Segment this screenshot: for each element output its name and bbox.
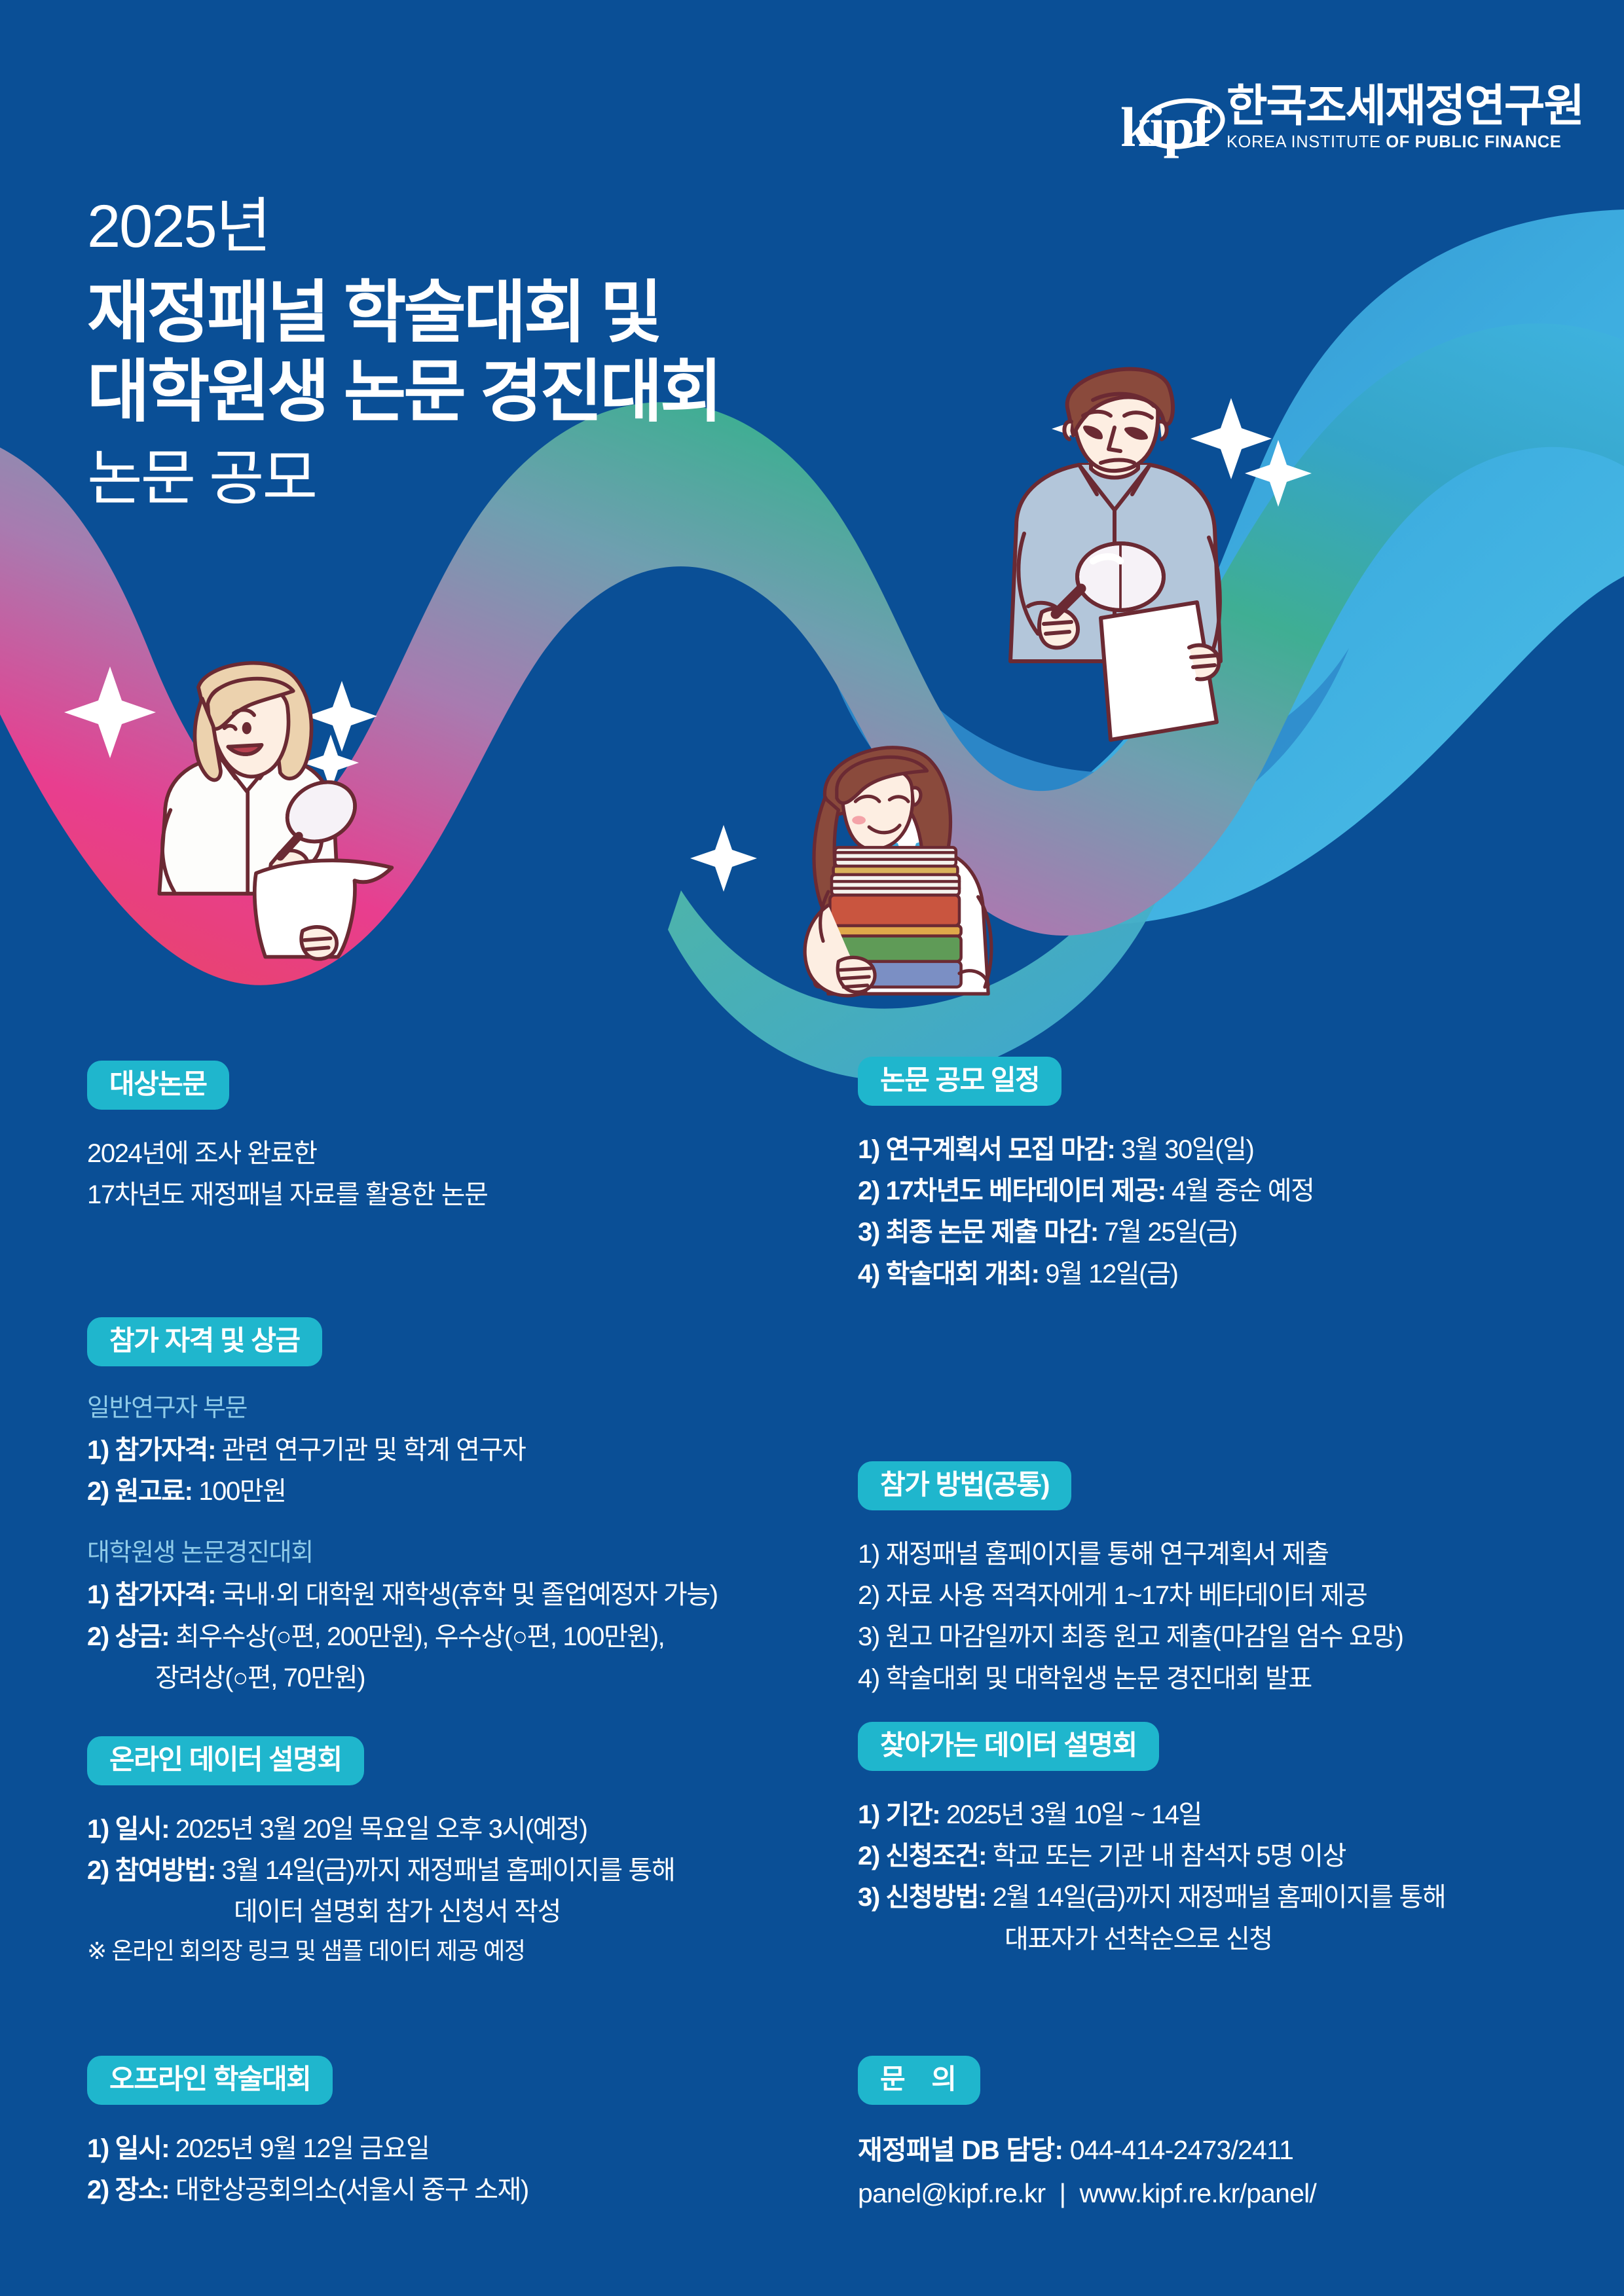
onsite-briefing-item-label: 3) 신청방법:: [858, 1883, 986, 1912]
offline-conference-item-label: 1) 일시:: [87, 2134, 169, 2163]
target-paper-line: 2024년에 조사 완료한: [87, 1133, 488, 1175]
schedule-item: 1) 연구계획서 모집 마감: 3월 30일(일): [858, 1129, 1314, 1171]
onsite-briefing-body: 1) 기간: 2025년 3월 10일 ~ 14일 2) 신청조건: 학교 또는…: [858, 1795, 1445, 1960]
how-to-join-item: 3) 원고 마감일까지 최종 원고 제출(마감일 엄수 요망): [858, 1616, 1403, 1658]
schedule-item-label: 2) 17차년도 베타데이터 제공:: [858, 1176, 1166, 1205]
eligibility-item-label: 1) 참가자격:: [87, 1436, 215, 1465]
online-briefing-item: 1) 일시: 2025년 3월 20일 목요일 오후 3시(예정): [87, 1809, 674, 1850]
badge-onsite-briefing: 찾아가는 데이터 설명회: [858, 1722, 1159, 1771]
inquiry-phone-label: 재정패널 DB 담당:: [858, 2135, 1063, 2165]
offline-conference-item: 2) 장소: 대한상공회의소(서울시 중구 소재): [87, 2170, 528, 2211]
onsite-briefing-item-value: 학교 또는 기관 내 참석자 5명 이상: [986, 1842, 1346, 1870]
how-to-join-item: 4) 학술대회 및 대학원생 논문 경진대회 발표: [858, 1658, 1403, 1700]
eligibility-item: 2) 원고료: 100만원: [87, 1471, 718, 1512]
logo-en-bold: OF PUBLIC FINANCE: [1386, 133, 1561, 151]
inquiry-body: 재정패널 DB 담당: 044-414-2473/2411 panel@kipf…: [858, 2128, 1316, 2215]
offline-conference-item-value: 대한상공회의소(서울시 중구 소재): [169, 2176, 528, 2204]
badge-schedule: 논문 공모 일정: [858, 1057, 1061, 1106]
schedule-item-label: 4) 학술대회 개최:: [858, 1260, 1039, 1288]
eligibility-item: 1) 참가자격: 관련 연구기관 및 학계 연구자: [87, 1430, 718, 1471]
badge-inquiry: 문 의: [858, 2056, 980, 2105]
onsite-briefing-continued: 대표자가 선착순으로 신청: [858, 1919, 1445, 1960]
how-to-join-item: 2) 자료 사용 적격자에게 1~17차 베타데이터 제공: [858, 1575, 1403, 1616]
schedule-item: 2) 17차년도 베타데이터 제공: 4월 중순 예정: [858, 1171, 1314, 1212]
how-to-join-body: 1) 재정패널 홈페이지를 통해 연구계획서 제출 2) 자료 사용 적격자에게…: [858, 1534, 1403, 1700]
inquiry-phone-value: 044-414-2473/2411: [1063, 2135, 1293, 2165]
section-how-to-join: 참가 방법(공통) 1) 재정패널 홈페이지를 통해 연구계획서 제출 2) 자…: [858, 1461, 1403, 1700]
badge-how-to-join: 참가 방법(공통): [858, 1461, 1071, 1510]
target-paper-line: 17차년도 재정패널 자료를 활용한 논문: [87, 1175, 488, 1216]
schedule-item-label: 3) 최종 논문 제출 마감:: [858, 1218, 1098, 1247]
schedule-body: 1) 연구계획서 모집 마감: 3월 30일(일) 2) 17차년도 베타데이터…: [858, 1129, 1314, 1295]
schedule-item: 4) 학술대회 개최: 9월 12일(금): [858, 1254, 1314, 1295]
offline-conference-item: 1) 일시: 2025년 9월 12일 금요일: [87, 2128, 528, 2170]
eligibility-body: 일반연구자 부문 1) 참가자격: 관련 연구기관 및 학계 연구자 2) 원고…: [87, 1390, 718, 1699]
offline-conference-body: 1) 일시: 2025년 9월 12일 금요일 2) 장소: 대한상공회의소(서…: [87, 2128, 528, 2211]
schedule-item-value: 7월 25일(금): [1098, 1218, 1237, 1247]
schedule-item-value: 4월 중순 예정: [1166, 1176, 1314, 1205]
logo-korean-name: 한국조세재정연구원: [1227, 84, 1583, 128]
online-briefing-note: ※ 온라인 회의장 링크 및 샘플 데이터 제공 예정: [87, 1933, 674, 1969]
schedule-item-value: 3월 30일(일): [1115, 1135, 1253, 1164]
eligibility-group1-title: 일반연구자 부문: [87, 1390, 718, 1427]
online-briefing-item-label: 1) 일시:: [87, 1815, 169, 1844]
eligibility-item: 1) 참가자격: 국내·외 대학원 재학생(휴학 및 졸업예정자 가능): [87, 1575, 718, 1616]
onsite-briefing-item-value: 2월 14일(금)까지 재정패널 홈페이지를 통해: [986, 1883, 1445, 1912]
eligibility-item-value: 최우수상(○편, 200만원), 우수상(○편, 100만원),: [169, 1622, 664, 1651]
online-briefing-item-value: 3월 14일(금)까지 재정패널 홈페이지를 통해: [215, 1856, 674, 1885]
section-onsite-briefing: 찾아가는 데이터 설명회 1) 기간: 2025년 3월 10일 ~ 14일 2…: [858, 1722, 1445, 1960]
eligibility-item-continued: 장려상(○편, 70만원): [87, 1658, 718, 1699]
online-briefing-continued: 데이터 설명회 참가 신청서 작성: [87, 1891, 674, 1933]
section-target-paper: 대상논문 2024년에 조사 완료한 17차년도 재정패널 자료를 활용한 논문: [87, 1061, 488, 1216]
eligibility-item-label: 2) 상금:: [87, 1622, 169, 1651]
title-subtitle: 논문 공모: [87, 448, 720, 509]
online-briefing-body: 1) 일시: 2025년 3월 20일 목요일 오후 3시(예정) 2) 참여방…: [87, 1809, 674, 1969]
kipf-logo: kipf 한국조세재정연구원 KOREA INSTITUTE OF PUBLIC…: [1120, 84, 1583, 151]
kipf-wordmark-icon: kipf: [1120, 101, 1209, 153]
poster-title-block: 2025년 재정패널 학술대회 및 대학원생 논문 경진대회 논문 공모: [87, 196, 720, 509]
onsite-briefing-item-label: 2) 신청조건:: [858, 1842, 986, 1870]
eligibility-item-value: 국내·외 대학원 재학생(휴학 및 졸업예정자 가능): [215, 1580, 718, 1609]
schedule-item-value: 9월 12일(금): [1039, 1260, 1178, 1288]
eligibility-item-label: 1) 참가자격:: [87, 1580, 215, 1609]
onsite-briefing-item: 1) 기간: 2025년 3월 10일 ~ 14일: [858, 1795, 1445, 1836]
online-briefing-item: 2) 참여방법: 3월 14일(금)까지 재정패널 홈페이지를 통해: [87, 1850, 674, 1891]
onsite-briefing-item-label: 1) 기간:: [858, 1800, 940, 1829]
inquiry-email-website[interactable]: panel@kipf.re.kr | www.kipf.re.kr/panel/: [858, 2172, 1316, 2215]
title-line-2: 대학원생 논문 경진대회: [87, 353, 720, 432]
section-offline-conference: 오프라인 학술대회 1) 일시: 2025년 9월 12일 금요일 2) 장소:…: [87, 2056, 528, 2211]
section-online-briefing: 온라인 데이터 설명회 1) 일시: 2025년 3월 20일 목요일 오후 3…: [87, 1736, 674, 1969]
title-year: 2025년: [87, 196, 720, 257]
poster-root: kipf 한국조세재정연구원 KOREA INSTITUTE OF PUBLIC…: [0, 0, 1624, 2296]
badge-offline-conference: 오프라인 학술대회: [87, 2056, 333, 2105]
eligibility-item-label: 2) 원고료:: [87, 1477, 193, 1506]
online-briefing-item-label: 2) 참여방법:: [87, 1856, 215, 1885]
badge-online-briefing: 온라인 데이터 설명회: [87, 1736, 364, 1785]
badge-target-paper: 대상논문: [87, 1061, 229, 1110]
spacer: [87, 1512, 718, 1535]
how-to-join-item: 1) 재정패널 홈페이지를 통해 연구계획서 제출: [858, 1534, 1403, 1575]
onsite-briefing-item: 2) 신청조건: 학교 또는 기관 내 참석자 5명 이상: [858, 1836, 1445, 1877]
title-line-1: 재정패널 학술대회 및: [87, 274, 720, 353]
badge-eligibility: 참가 자격 및 상금: [87, 1317, 322, 1366]
onsite-briefing-item-value: 2025년 3월 10일 ~ 14일: [940, 1800, 1202, 1829]
logo-english-name: KOREA INSTITUTE OF PUBLIC FINANCE: [1227, 134, 1561, 151]
section-schedule: 논문 공모 일정 1) 연구계획서 모집 마감: 3월 30일(일) 2) 17…: [858, 1057, 1314, 1295]
section-inquiry: 문 의 재정패널 DB 담당: 044-414-2473/2411 panel@…: [858, 2056, 1316, 2215]
logo-en-light: KOREA INSTITUTE: [1227, 133, 1386, 151]
inquiry-phone: 재정패널 DB 담당: 044-414-2473/2411: [858, 2128, 1316, 2172]
eligibility-item-value: 100만원: [193, 1477, 286, 1506]
eligibility-item: 2) 상금: 최우수상(○편, 200만원), 우수상(○편, 100만원),: [87, 1616, 718, 1658]
schedule-item: 3) 최종 논문 제출 마감: 7월 25일(금): [858, 1212, 1314, 1253]
schedule-item-label: 1) 연구계획서 모집 마감:: [858, 1135, 1115, 1164]
eligibility-item-value: 관련 연구기관 및 학계 연구자: [215, 1436, 525, 1465]
offline-conference-item-label: 2) 장소:: [87, 2176, 169, 2204]
section-eligibility: 참가 자격 및 상금 일반연구자 부문 1) 참가자격: 관련 연구기관 및 학…: [87, 1317, 718, 1699]
target-paper-body: 2024년에 조사 완료한 17차년도 재정패널 자료를 활용한 논문: [87, 1133, 488, 1216]
online-briefing-item-value: 2025년 3월 20일 목요일 오후 3시(예정): [169, 1815, 587, 1844]
onsite-briefing-item: 3) 신청방법: 2월 14일(금)까지 재정패널 홈페이지를 통해: [858, 1877, 1445, 1918]
offline-conference-item-value: 2025년 9월 12일 금요일: [169, 2134, 429, 2163]
eligibility-group2-title: 대학원생 논문경진대회: [87, 1535, 718, 1572]
